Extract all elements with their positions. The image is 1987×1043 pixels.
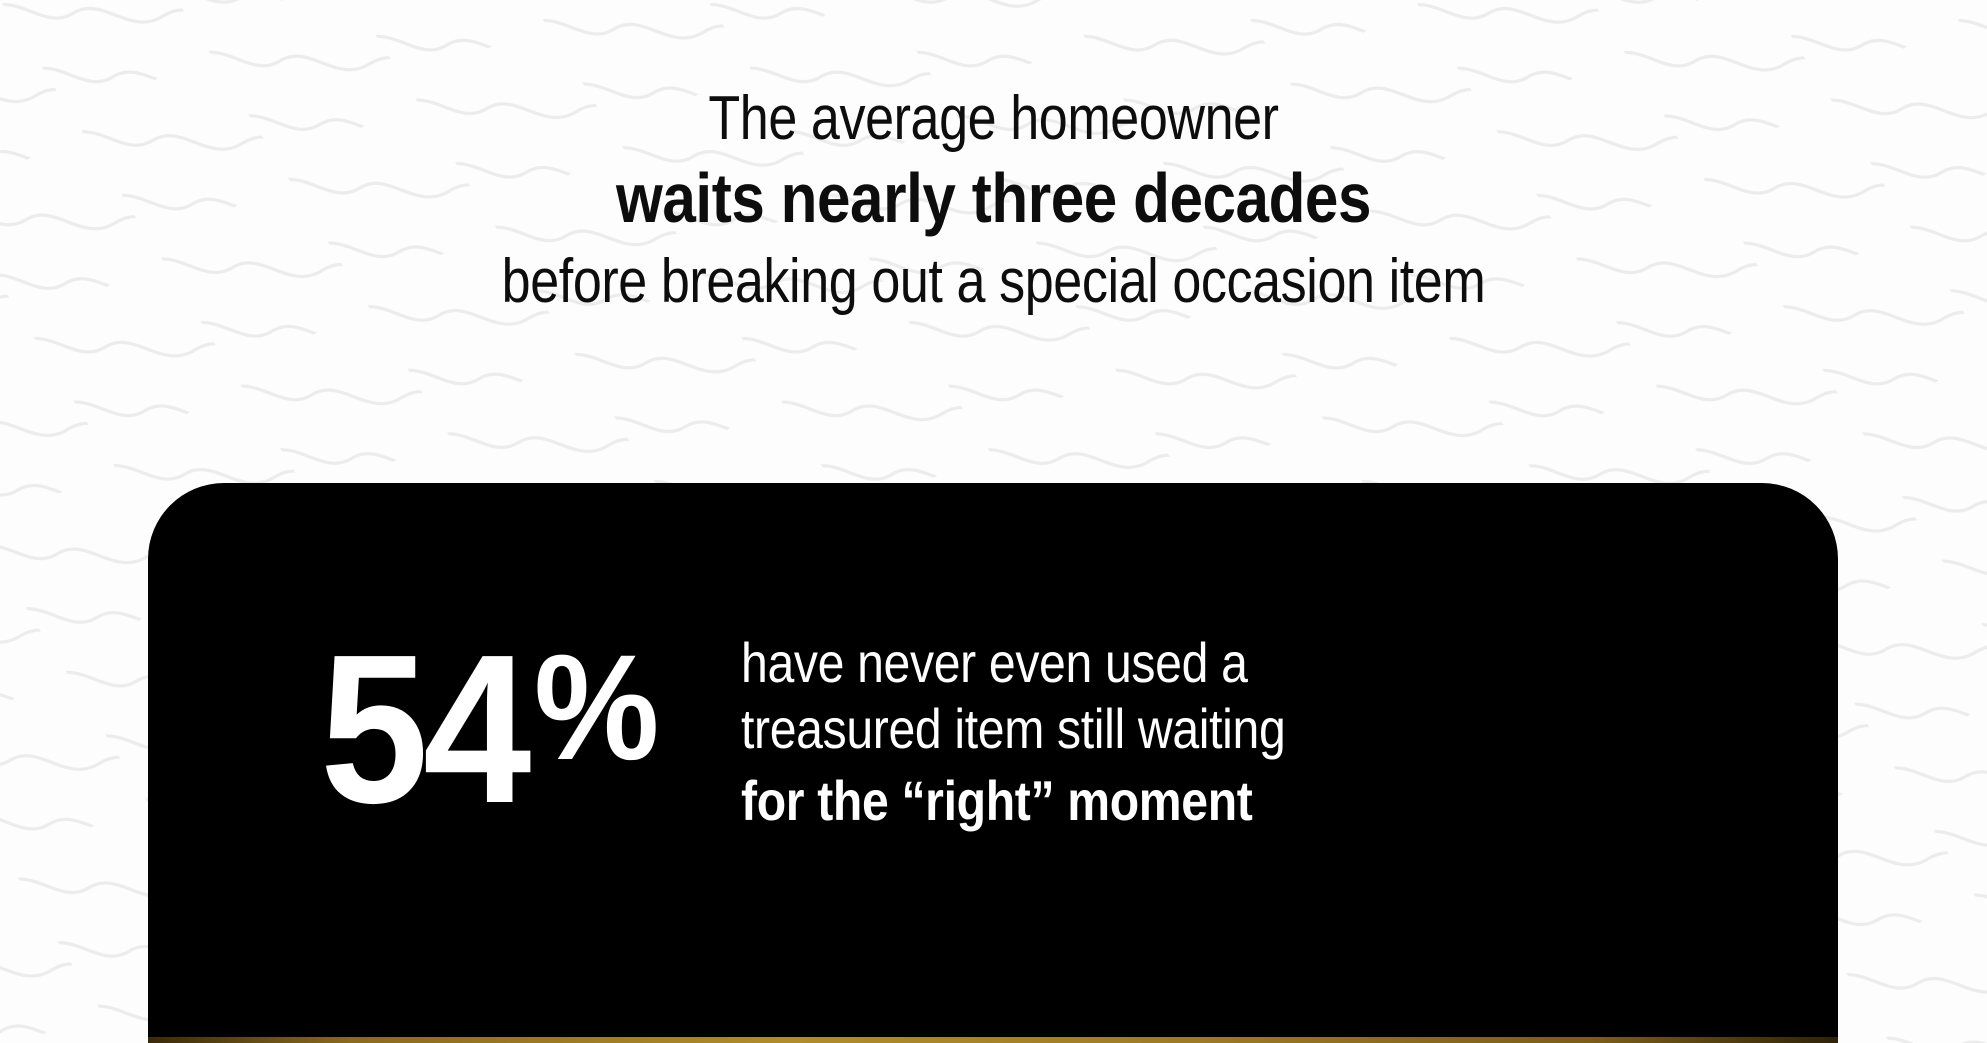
infographic-canvas: The average homeowner waits nearly three… [0, 0, 1987, 1043]
percent-symbol: % [534, 632, 659, 782]
statistic-description-line-3-emphasis: for the “right” moment [741, 768, 1285, 834]
headline-line-1: The average homeowner [159, 82, 1828, 155]
statistic-number: 54 [320, 636, 526, 823]
statistic-description: have never even used a treasured item st… [741, 624, 1374, 833]
statistic-card-content: 54 % have never even used a treasured it… [148, 483, 1838, 1039]
statistic-description-line-1: have never even used a [741, 630, 1285, 696]
statistic-card: 54 % have never even used a treasured it… [148, 483, 1838, 1039]
headline-line-2-emphasis: waits nearly three decades [139, 159, 1848, 239]
headline-block: The average homeowner waits nearly three… [0, 82, 1987, 318]
gold-accent-strip [148, 1037, 1838, 1043]
statistic-description-line-2: treasured item still waiting [741, 696, 1285, 762]
statistic-figure: 54 % [320, 636, 667, 823]
headline-line-3: before breaking out a special occasion i… [159, 245, 1828, 318]
